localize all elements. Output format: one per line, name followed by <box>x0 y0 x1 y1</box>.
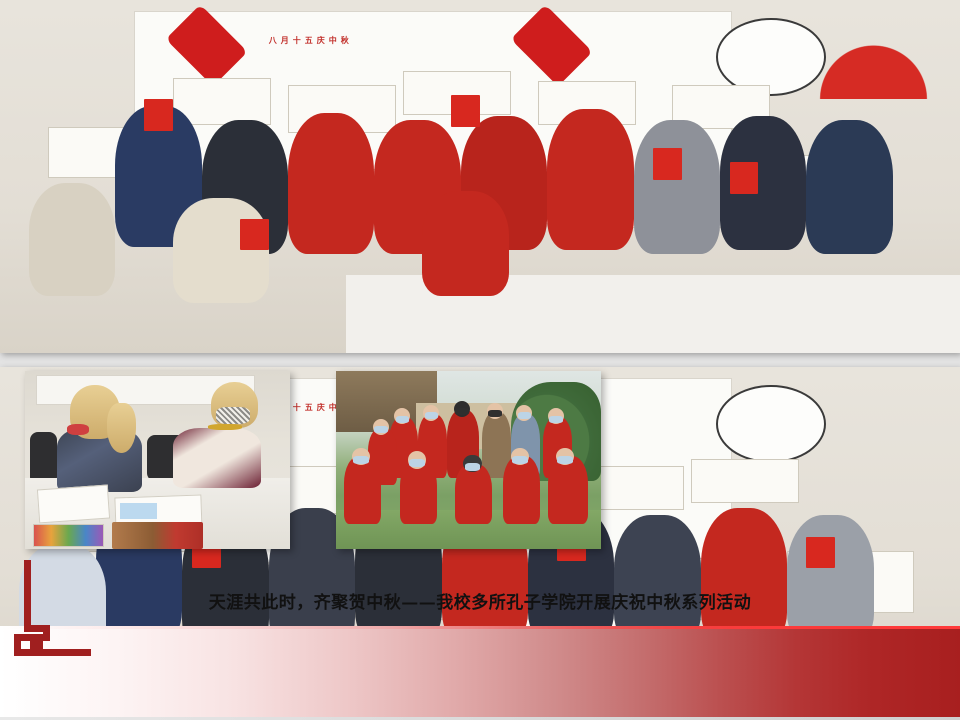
footer-highlight-line <box>0 626 960 629</box>
photo-children-artwork-pair: 八月十五庆中秋 <box>0 0 285 250</box>
footer-band <box>0 626 960 720</box>
photo-children-artwork-top: 八月十五庆中秋 <box>0 0 960 353</box>
photo-group-red-jackets <box>336 371 601 549</box>
photo-wall-text: 八月十五庆中秋 <box>269 35 595 70</box>
photo-girls-drawing <box>25 371 290 549</box>
presentation-slide: 重庆师范大学 斯里兰卡凯拉尼亚大学孔子学院 <box>0 0 960 720</box>
slide-caption: 天涯共此时，齐聚贺中秋——我校多所孔子学院开展庆祝中秋系列活动 <box>0 588 960 613</box>
chinese-corner-ornament-bottom-left-icon <box>14 560 94 666</box>
